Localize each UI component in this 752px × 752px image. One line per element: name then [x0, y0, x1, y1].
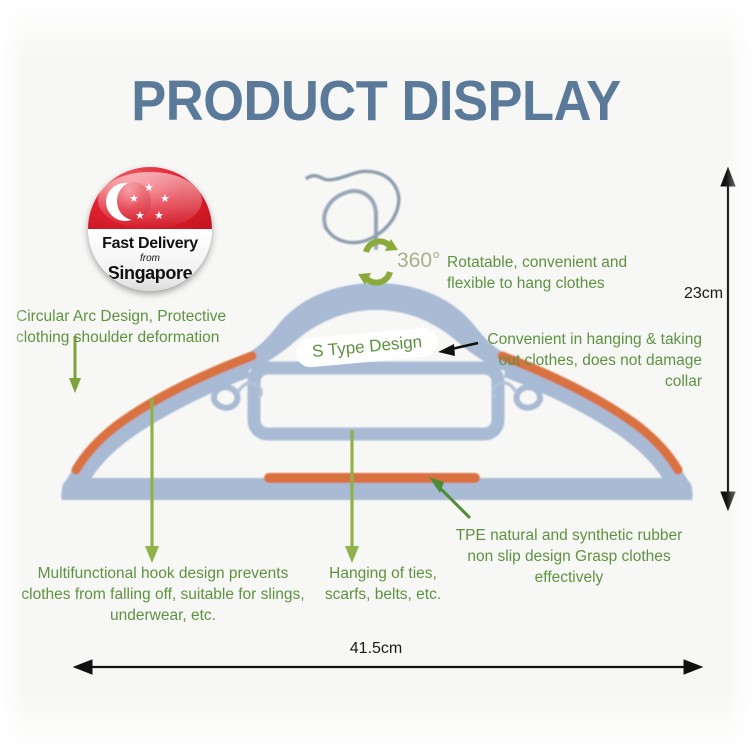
rotate-360-degrees-label: 360° [397, 250, 440, 271]
annotation-hanging-ties: Hanging of ties, scarfs, belts, etc. [318, 563, 448, 605]
hook-swivel-lower [324, 191, 376, 228]
annotation-rotatable: Rotatable, convenient and flexible to ha… [447, 252, 677, 294]
hook-curve [322, 171, 399, 242]
annotation-circular-arc: Circular Arc Design, Protective clothing… [16, 306, 276, 348]
bottom-bar-rubber-strip [264, 473, 480, 483]
hanger-left-shoulder [70, 354, 250, 484]
left-multifunction-hook [214, 387, 237, 408]
dimension-height-arrow [721, 168, 735, 510]
hook-tip [307, 176, 322, 178]
product-display-canvas: PRODUCT DISPLAY ★ ★ ★ ★ ★ Fast Delivery … [0, 0, 752, 752]
annotation-tpe-rubber: TPE natural and synthetic rubber non sli… [444, 525, 694, 588]
annotation-multifunction-hook: Multifunctional hook design prevents clo… [18, 563, 308, 626]
dimension-height-label: 23cm [684, 285, 723, 303]
dimension-width-arrow [74, 660, 702, 674]
dimension-width-label: 41.5cm [0, 640, 752, 658]
annotation-collar: Convenient in hanging & taking out cloth… [462, 329, 702, 392]
